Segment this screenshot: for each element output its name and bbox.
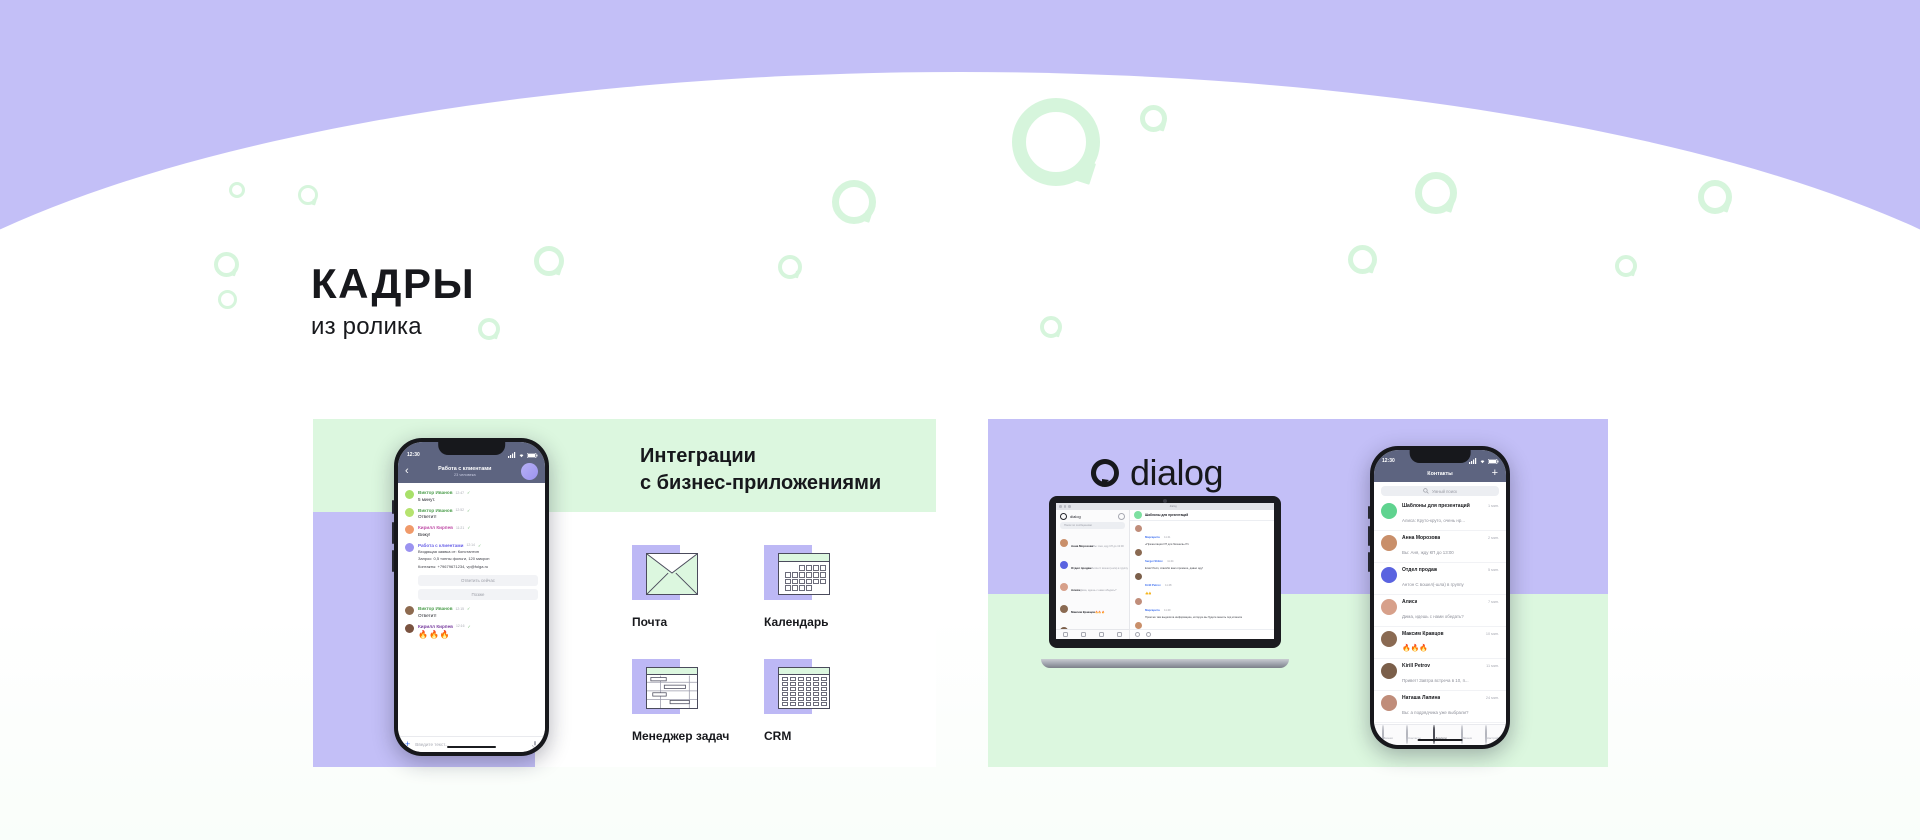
avatar (1381, 535, 1397, 551)
crm-icon (764, 659, 830, 721)
message-time: 12:14 (466, 543, 475, 547)
integration-label-task-manager: Менеджер задач (632, 729, 742, 743)
tab-gear[interactable]: Настройки (1480, 726, 1506, 744)
attach-plus-icon[interactable]: + (405, 740, 410, 749)
groups-icon[interactable] (1081, 632, 1086, 637)
message-sender: Sergei Shilov (1145, 559, 1163, 563)
contact-preview: Вы: а подрядчика уже выбрали? (1402, 710, 1468, 715)
avatar (1135, 598, 1142, 605)
avatar (405, 508, 414, 517)
avatar (1381, 567, 1397, 583)
message-time: 12:47 (456, 491, 465, 495)
decorative-bubble-icon (1348, 245, 1377, 274)
contact-row[interactable]: Максим Кравцов10 мин.🔥🔥🔥 (1374, 627, 1506, 659)
contacts-list[interactable]: Шаблоны для презентаций1 мин.Алиса: Крут… (1374, 499, 1506, 724)
avatar (1060, 605, 1068, 613)
decorative-bubble-icon (1012, 98, 1100, 186)
integrations-heading-line2: с бизнес-приложениями (640, 470, 940, 497)
tab-label: Настройки (1487, 736, 1501, 740)
avatar (405, 606, 414, 615)
dialog-wordmark: dialog (1130, 452, 1223, 494)
microphone-icon[interactable] (532, 741, 538, 749)
message-sender: Маргарита (1145, 535, 1160, 539)
reply-now-button[interactable]: Ответить сейчас (418, 575, 538, 586)
tab-phone-circle[interactable]: Звонки (1374, 726, 1400, 744)
contact-time: 7 мин. (1488, 600, 1499, 604)
message-input-bar[interactable]: + Введите текст... (398, 736, 545, 752)
desktop-chat-message: Anna Morozova 11:52 (1130, 620, 1274, 629)
avatar (1381, 663, 1397, 679)
desktop-sidebar: dialog Поиск по сообщениям Анна Морозова… (1056, 510, 1130, 639)
gear-icon (1485, 725, 1487, 744)
bot-line-contacts: Контакты: +79679671234, vp@folga.ru (418, 564, 538, 570)
message-sender: Кирилл Кирпев (418, 624, 453, 629)
desktop-window-titlebar: dialog (1056, 503, 1274, 510)
chat-bot-message: Работа с клиентами 12:14 ✓ Входящая заяв… (398, 540, 545, 573)
page-subtitle: из ролика (311, 313, 475, 341)
read-check-icon: ✓ (478, 543, 481, 548)
chat-titles: Работа с клиентами 23 человека (409, 466, 521, 477)
desktop-conversation-list[interactable]: Анна МорозоваВы: Аня, жду КП до 13:00Отд… (1056, 532, 1129, 629)
chat-message: Виктор Иванов 12:52 ✓ Ответит! (398, 505, 545, 523)
laptop-mockup: dialog dialog Поиск по сообщениям Анна М… (1041, 496, 1289, 668)
gear-icon[interactable] (1063, 632, 1068, 637)
chat-subtitle: 23 человека (409, 473, 521, 477)
read-check-icon: ✓ (467, 508, 470, 513)
smart-search-input[interactable]: Умный поиск (1381, 486, 1499, 496)
contact-name: Наташа Лапина (1402, 695, 1440, 701)
integration-item-mail[interactable]: Почта (632, 545, 742, 629)
desktop-conversation-row[interactable]: АлисаДима, идешь с нами обедать? (1056, 576, 1129, 598)
signal-icon (508, 452, 516, 458)
decorative-bubble-icon (1615, 255, 1637, 277)
desktop-conversation-row[interactable]: Максим Кравцов🔥🔥🔥 (1056, 598, 1129, 620)
left-phone-screen: 12:30 ‹ Работа с клиентами 23 человека (398, 442, 545, 752)
calendar-icon (764, 545, 830, 607)
right-phone-mockup: 12:30 Контакты + Умный поиск Шаблоны для… (1370, 446, 1510, 749)
desktop-search-input[interactable]: Поиск по сообщениям (1060, 522, 1125, 529)
window-minimize-icon[interactable] (1064, 505, 1067, 508)
message-text: 5 минут. (418, 497, 538, 502)
message-time: 11:21 (456, 526, 464, 530)
decorative-bubble-icon (298, 185, 318, 205)
message-sender: Работа с клиентами (418, 543, 463, 548)
avatar (1135, 525, 1142, 532)
bottom-tab-bar[interactable]: ЗвонкиКонтактыДиалогиЗвонкиНастройки (1374, 724, 1506, 745)
chat-message: Виктор Иванов 12:15 ✓ Ответит! (398, 603, 545, 621)
avatar (1135, 549, 1142, 556)
chat-title: Работа с клиентами (409, 466, 521, 472)
desktop-conversation-row[interactable]: Отдел продажАнтон С вошел(-шла) в группу (1056, 554, 1129, 576)
contact-time: 24 мин. (1486, 696, 1499, 700)
desktop-chat-message: Sergei Shilov 11:44Елки! Респ, спасибо в… (1130, 547, 1274, 571)
contact-row[interactable]: Анна Морозова2 мин.Вы: Аня, жду КП до 13… (1374, 531, 1506, 563)
read-check-icon: ✓ (467, 624, 470, 629)
contacts-nav-bar: Контакты + (1374, 465, 1506, 482)
decorative-bubble-icon (778, 255, 802, 279)
page-title-block: КАДРЫ из ролика (311, 262, 475, 341)
status-icons (1469, 458, 1499, 464)
message-text: Ответит! (418, 514, 538, 519)
integration-item-task-manager[interactable]: Менеджер задач (632, 659, 742, 743)
contact-preview: Алиса: Круто-круто, очень нр... (1402, 518, 1465, 523)
search-icon (1423, 488, 1429, 494)
avatar (1381, 503, 1397, 519)
wifi-icon (1479, 458, 1486, 464)
contact-row[interactable]: Шаблоны для презентаций1 мин.Алиса: Крут… (1374, 499, 1506, 531)
tab-contacts[interactable]: Контакты (1400, 726, 1426, 744)
tab-label: Звонки (1463, 736, 1472, 740)
message-text: Вижу! (418, 532, 538, 537)
conversation-preview: Антон С вошел(-шла) в группу (1091, 567, 1127, 570)
wifi-icon (518, 452, 525, 458)
chat-message-list[interactable]: Виктор Иванов 12:47 ✓ 5 минут. Виктор Ив… (398, 483, 545, 736)
contact-time: 5 мин. (1488, 568, 1499, 572)
page-title: КАДРЫ (311, 262, 475, 307)
desktop-composer[interactable] (1130, 629, 1274, 639)
chat-nav-bar: ‹ Работа с клиентами 23 человека (398, 459, 545, 483)
decorative-bubble-icon (1040, 316, 1062, 338)
status-time: 12:30 (407, 452, 420, 458)
settings-icon[interactable] (1118, 513, 1125, 520)
integration-item-calendar[interactable]: Календарь (764, 545, 874, 629)
contact-preview: Антон С вошел(-шла) в группу (1402, 582, 1464, 587)
contact-preview: 🔥🔥🔥 (1402, 645, 1428, 652)
contact-row[interactable]: Отдел продаж5 мин.Антон С вошел(-шла) в … (1374, 563, 1506, 595)
contact-row[interactable]: Наташа Лапина24 мин.Вы: а подрядчика уже… (1374, 691, 1506, 723)
avatar (1060, 561, 1068, 569)
decorative-bubble-icon (1140, 105, 1167, 132)
message-time: 11:48 (1165, 584, 1171, 587)
read-check-icon: ✓ (467, 490, 470, 495)
left-phone-mockup: 12:30 ‹ Работа с клиентами 23 человека (394, 438, 549, 756)
avatar (405, 624, 414, 633)
decorative-bubble-icon (1415, 172, 1457, 214)
desktop-sidebar-header: dialog (1056, 510, 1129, 522)
contact-name: Отдел продаж (1402, 567, 1437, 573)
contact-name: Kirill Petrov (1402, 663, 1430, 669)
desktop-conversation-row[interactable]: Kirill PetrovПривет! Завтра встреча в 10… (1056, 620, 1129, 629)
dialog-logo: dialog (1089, 452, 1223, 494)
avatar (1135, 622, 1142, 629)
decorative-bubble-icon (229, 182, 245, 198)
conversation-name: Анна Морозова (1071, 544, 1093, 548)
conversation-preview: Вы: Аня, жду КП до 13:00 (1093, 545, 1124, 548)
read-check-icon: ✓ (467, 525, 470, 530)
attach-icon[interactable] (1135, 632, 1140, 637)
contact-preview: Дима, идешь с нами обедать? (1402, 614, 1464, 619)
message-time: 11:41 (1164, 536, 1170, 539)
contact-name: Алиса (1402, 599, 1417, 605)
desktop-message-list[interactable]: Маргарита 11:41«Презентация ИТ для бизне… (1130, 521, 1274, 629)
contact-name: Шаблоны для презентаций (1402, 503, 1470, 509)
message-text: «Презентация ИТ для бизнеса» P1 (1145, 543, 1269, 546)
mail-icon (632, 545, 698, 607)
message-text: 🔥🔥🔥 (418, 630, 538, 639)
phone-notch (438, 442, 506, 455)
desktop-chat-title: Шаблоны для презентаций (1145, 513, 1188, 517)
conversation-name: Отдел продаж (1071, 566, 1091, 570)
contacts-title: Контакты (1427, 471, 1452, 477)
message-sender: Виктор Иванов (418, 490, 453, 495)
contact-preview: Вы: Аня, жду КП до 13:00 (1402, 550, 1454, 555)
integration-label-crm: CRM (764, 729, 874, 743)
integrations-grid: Почта Календарь (632, 545, 882, 744)
decorative-bubble-icon (218, 290, 237, 309)
home-indicator (447, 746, 497, 749)
message-time: 12:16 (456, 624, 465, 628)
message-time: 11:44 (1167, 560, 1173, 563)
decorative-bubble-icon (478, 318, 500, 340)
message-time: 12:52 (456, 508, 465, 512)
desktop-chat-message: Kirill Petrov 11:48👍👍 (1130, 571, 1274, 596)
laptop-screen: dialog dialog Поиск по сообщениям Анна М… (1056, 503, 1274, 639)
message-text: Прям же там выделила информацию, которую… (1145, 616, 1269, 619)
smart-search-placeholder: Умный поиск (1432, 489, 1457, 494)
message-sender: Маргарита (1145, 608, 1160, 612)
laptop-lid: dialog dialog Поиск по сообщениям Анна М… (1049, 496, 1281, 648)
task-manager-icon (632, 659, 698, 721)
dialog-bubble-icon (1089, 457, 1121, 489)
decorative-bubble-icon (1698, 180, 1732, 214)
conversation-name: Максим Кравцов (1071, 610, 1095, 614)
window-title: dialog (1073, 505, 1275, 508)
dialog-bubble-icon (1060, 513, 1067, 520)
laptop-base (1041, 659, 1289, 668)
conversation-name: Алиса (1071, 588, 1080, 592)
avatar (405, 543, 414, 552)
contact-time: 1 мин. (1488, 504, 1499, 508)
conversation-preview: 🔥🔥🔥 (1095, 611, 1105, 614)
window-maximize-icon[interactable] (1068, 505, 1071, 508)
background-dome (0, 72, 1920, 840)
desktop-sidebar-footer (1056, 629, 1129, 639)
contact-row[interactable]: Kirill Petrov11 мин.Привет! Завтра встре… (1374, 659, 1506, 691)
integrations-heading-line1: Интеграции (640, 443, 940, 470)
emoji-icon[interactable] (1146, 632, 1151, 637)
message-text: Елки! Респ, спасибо вам огромное, давно … (1145, 567, 1269, 570)
avatar (1381, 695, 1397, 711)
integration-item-crm[interactable]: CRM (764, 659, 874, 743)
desktop-chat-header: Шаблоны для презентаций (1130, 510, 1274, 521)
avatar (1134, 511, 1142, 519)
desktop-brand: dialog (1070, 514, 1081, 519)
contact-name: Максим Кравцов (1402, 631, 1444, 637)
calls-icon[interactable] (1117, 632, 1122, 637)
integrations-heading: Интеграции с бизнес-приложениями (640, 443, 940, 497)
window-close-icon[interactable] (1059, 505, 1062, 508)
message-sender: Kirill Petrov (1145, 583, 1161, 587)
home-indicator (1418, 739, 1463, 742)
contacts-icon (1406, 725, 1408, 744)
avatar[interactable] (521, 463, 538, 480)
message-time: 11:49 (1164, 609, 1170, 612)
avatar (1381, 599, 1397, 615)
battery-icon (1488, 459, 1499, 464)
desktop-search-placeholder: Поиск по сообщениям (1064, 524, 1092, 527)
contact-time: 10 мин. (1486, 632, 1499, 636)
right-phone-screen: 12:30 Контакты + Умный поиск Шаблоны для… (1374, 450, 1506, 745)
read-check-icon: ✓ (467, 606, 470, 611)
add-contact-icon[interactable]: + (1492, 468, 1498, 479)
status-icons (508, 452, 538, 458)
desktop-chat-pane: Шаблоны для презентаций Маргарита 11:41«… (1130, 510, 1274, 639)
message-sender: Виктор Иванов (418, 606, 453, 611)
bot-line-from: Входящая заявка от: Константин (418, 549, 538, 555)
phone-notch (1410, 450, 1471, 463)
integration-label-mail: Почта (632, 615, 742, 629)
message-sender: Виктор Иванов (418, 508, 453, 513)
chat-bubble-icon (1433, 725, 1435, 744)
decorative-bubble-icon (832, 180, 876, 224)
avatar (1060, 583, 1068, 591)
avatar (1060, 539, 1068, 547)
tab-chat-bubble[interactable]: Диалоги (1427, 726, 1453, 744)
desktop-chat-message: Маргарита 11:49Прям же там выделила инфо… (1130, 596, 1274, 620)
contact-name: Анна Морозова (1402, 535, 1440, 541)
avatar (1135, 573, 1142, 580)
reply-later-button[interactable]: Позже (418, 589, 538, 600)
avatar (405, 490, 414, 499)
conversation-preview: Дима, идешь с нами обедать? (1080, 589, 1116, 592)
chat-message: Кирилл Кирпев 12:16 ✓ 🔥🔥🔥 (398, 621, 545, 643)
decorative-bubble-icon (214, 252, 239, 277)
message-time: 12:15 (456, 607, 465, 611)
integration-label-calendar: Календарь (764, 615, 874, 629)
contact-time: 11 мин. (1486, 664, 1499, 668)
avatar (1381, 631, 1397, 647)
contact-preview: Привет! Завтра встреча в 10, п... (1402, 678, 1469, 683)
message-text: Ответит! (418, 613, 538, 618)
status-time: 12:30 (1382, 458, 1395, 464)
contacts-icon[interactable] (1099, 632, 1104, 637)
contact-row[interactable]: Алиса7 мин.Дима, идешь с нами обедать? (1374, 595, 1506, 627)
message-text: 👍👍 (1145, 591, 1269, 595)
decorative-bubble-icon (534, 246, 564, 276)
desktop-chat-message: Маргарита 11:41«Презентация ИТ для бизне… (1130, 523, 1274, 547)
chat-message: Кирилл Кирпев 11:21 ✓ Вижу! (398, 522, 545, 540)
contacts-search-area: Умный поиск (1374, 482, 1506, 499)
tab-label: Звонки (1384, 736, 1393, 740)
avatar (405, 525, 414, 534)
bot-line-request: Запрос: 0,5 тонны фольги, 120 микрон (418, 556, 538, 562)
signal-icon (1469, 458, 1477, 464)
handset-icon (1461, 725, 1463, 744)
contact-time: 2 мин. (1488, 536, 1499, 540)
battery-icon (527, 453, 538, 458)
phone-circle-icon (1382, 725, 1384, 744)
message-sender: Кирилл Кирпев (418, 525, 453, 530)
chat-message: Виктор Иванов 12:47 ✓ 5 минут. (398, 487, 545, 505)
tab-handset[interactable]: Звонки (1453, 726, 1479, 744)
desktop-conversation-row[interactable]: Анна МорозоваВы: Аня, жду КП до 13:00 (1056, 532, 1129, 554)
